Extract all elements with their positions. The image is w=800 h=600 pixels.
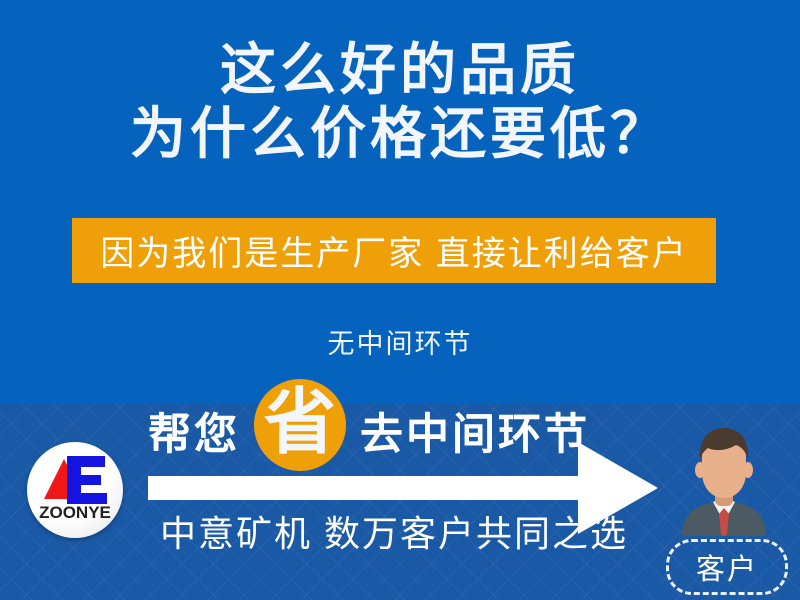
no-middleman-subtitle: 无中间环节	[0, 322, 800, 361]
businessman-avatar	[672, 426, 776, 536]
promise-banner-text: 因为我们是生产厂家 直接让利给客户	[100, 226, 687, 275]
save-character: 省	[264, 377, 336, 469]
save-prefix-text: 帮您	[148, 400, 240, 462]
company-logo: ZOONYE	[27, 442, 123, 538]
headline-line-2: 为什么价格还要低？	[0, 102, 800, 166]
logo-brand-text: ZOONYE	[39, 503, 111, 522]
save-circle-badge: 省	[254, 379, 346, 471]
tagline-text: 中意矿机 数万客户共同之选	[160, 505, 628, 557]
customer-label-text: 客户	[696, 546, 758, 588]
page-title: 这么好的品质 为什么价格还要低？	[0, 38, 800, 166]
promo-banner: 这么好的品质 为什么价格还要低？ 因为我们是生产厂家 直接让利给客户 无中间环节…	[0, 0, 800, 600]
headline-line-1: 这么好的品质	[0, 38, 800, 102]
save-slogan-row: 帮您 省 去中间环节	[148, 398, 590, 464]
customer-label-badge: 客户	[666, 539, 788, 595]
promise-banner: 因为我们是生产厂家 直接让利给客户	[72, 218, 716, 283]
save-suffix-text: 去中间环节	[360, 400, 590, 462]
